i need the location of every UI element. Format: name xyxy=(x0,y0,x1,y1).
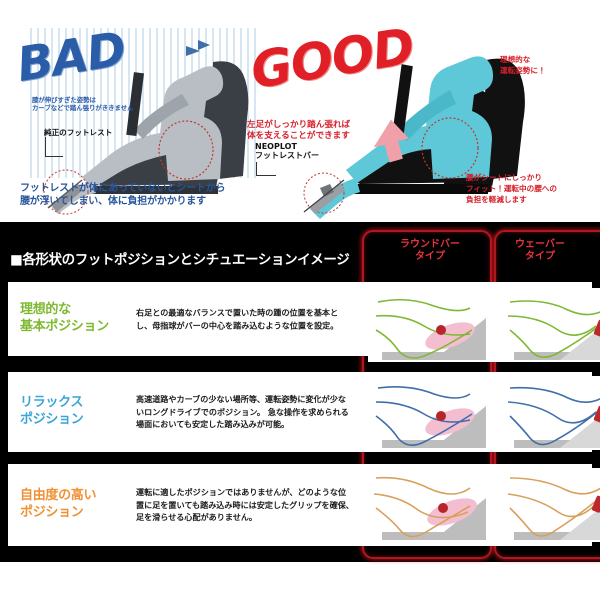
row-label-1: リラックス ポジション xyxy=(20,395,84,429)
row-desc-1: 高速道路やカーブの少ない場所等、運転姿勢に変化が少ないロングドライブでのポジショ… xyxy=(136,393,354,431)
bad-leader-line xyxy=(45,137,46,157)
good-note-left: 左足がしっかり踏ん張れば 体を支えることができます xyxy=(247,120,350,142)
foot-diagram-wave-relax xyxy=(500,376,600,450)
table-row: リラックス ポジション 高速道路やカーブの少ない場所等、運転姿勢に変化が少ないロ… xyxy=(8,372,592,452)
foot-diagram-round-ideal xyxy=(368,288,516,362)
foot-diagram-wave-ideal xyxy=(500,288,600,362)
infographic-page: 膝が伸びすぎた姿勢は カーブなどで踏ん張りがききません 純正のフットレスト フッ… xyxy=(0,0,600,600)
top-comparison-panel: 膝が伸びすぎた姿勢は カーブなどで踏ん張りがききません 純正のフットレスト フッ… xyxy=(0,0,600,222)
foot-diagram-round-relax xyxy=(368,376,516,450)
bad-leader-line-h xyxy=(45,156,63,157)
table-row: 理想的な 基本ポジション 右足との最適なバランスで置いた時の踵の位置を基本とし、… xyxy=(8,282,592,356)
good-note-bottom-right: 腰がシートにしっかり フィット！運転中の腰への 負担を軽減します xyxy=(466,172,557,205)
table-row: 自由度の高い ポジション 運転に適したポジションではありませんが、どのような位置… xyxy=(8,464,592,546)
row-desc-0: 右足との最適なバランスで置いた時の踵の位置を基本とし、母指球がバーの中心を踏み込… xyxy=(136,306,354,331)
good-leader-line xyxy=(256,162,257,176)
cell-image-wave-2 xyxy=(500,468,600,542)
row-label-2: 自由度の高い ポジション xyxy=(20,488,96,522)
cell-image-round-2 xyxy=(368,468,516,542)
good-leader-line-h xyxy=(256,175,276,176)
good-part-label: フットレストバー xyxy=(255,151,319,161)
foot-diagram-round-free xyxy=(368,468,516,542)
row-desc-2: 運転に適したポジションではありませんが、どのような位置に足を置いても踏み込み時に… xyxy=(136,486,354,524)
cell-image-round-0 xyxy=(368,288,516,362)
good-note-top-right: 理想的な 運転姿勢に！ xyxy=(500,54,546,76)
section-title: ■各形状のフットポジションとシチュエーションイメージ xyxy=(10,248,349,268)
bad-note-top: 膝が伸びすぎた姿勢は カーブなどで踏ん張りがききません xyxy=(32,96,134,112)
bad-part-label: 純正のフットレスト xyxy=(44,128,112,138)
bad-caption: フットレストが体にあっていないとシートから 腰が浮いてしまい、体に負担がかかりま… xyxy=(20,183,225,209)
foot-diagram-wave-free xyxy=(500,468,600,542)
column-header-wave: ウェーバー タイプ xyxy=(470,232,600,270)
cell-image-wave-0 xyxy=(500,288,600,362)
cell-image-round-1 xyxy=(368,376,516,450)
row-label-0: 理想的な 基本ポジション xyxy=(20,302,109,336)
cell-image-wave-1 xyxy=(500,376,600,450)
